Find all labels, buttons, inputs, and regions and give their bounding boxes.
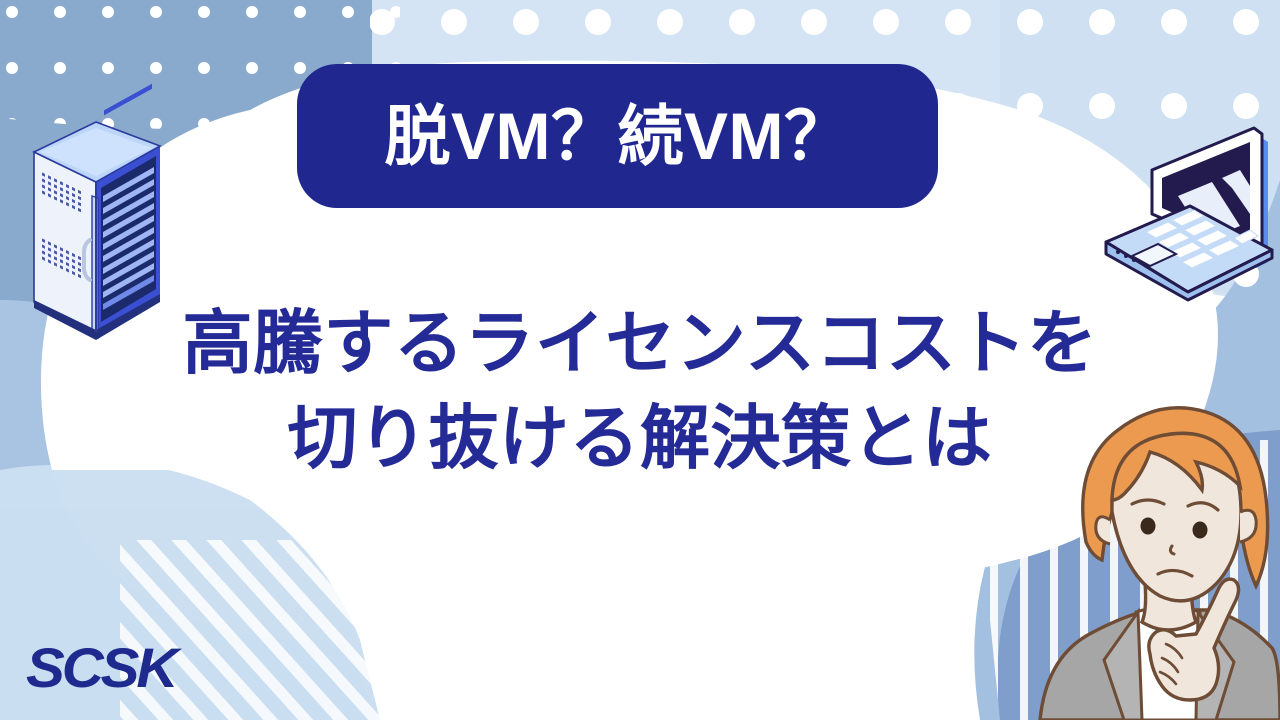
slide-canvas: 脱VM？続VM？ 高騰するライセンスコストを 切り抜ける解決策とは SCSK [0,0,1280,720]
text-layer: 脱VM？続VM？ 高騰するライセンスコストを 切り抜ける解決策とは SCSK [0,0,1280,720]
scsk-logo: SCSK [26,640,175,696]
headline-block: 高騰するライセンスコストを 切り抜ける解決策とは [0,296,1280,486]
headline-line-1: 高騰するライセンスコストを [0,296,1280,391]
badge-label: 脱VM？続VM？ [385,103,851,169]
headline-line-2: 切り抜ける解決策とは [0,391,1280,486]
title-badge: 脱VM？続VM？ [297,64,938,208]
